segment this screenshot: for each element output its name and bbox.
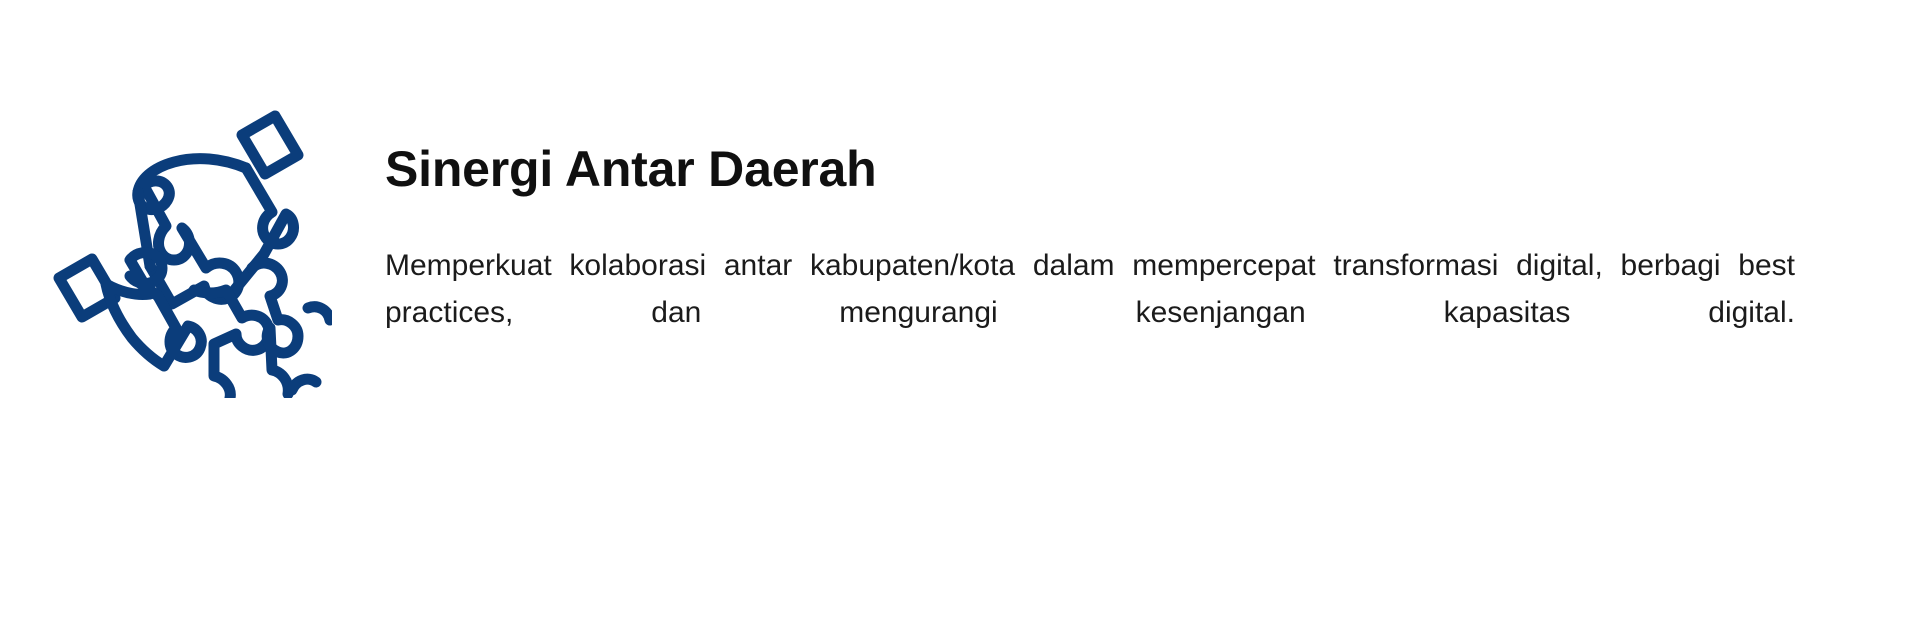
feature-card: Sinergi Antar Daerah Memperkuat kolabora…: [0, 0, 1920, 640]
feature-text-block: Sinergi Antar Daerah Memperkuat kolabora…: [385, 140, 1795, 383]
feature-description: Memperkuat kolaborasi antar kabupaten/ko…: [385, 198, 1795, 383]
page-title: Sinergi Antar Daerah: [385, 140, 1795, 198]
three-puzzle-pieces-icon: [46, 108, 332, 398]
